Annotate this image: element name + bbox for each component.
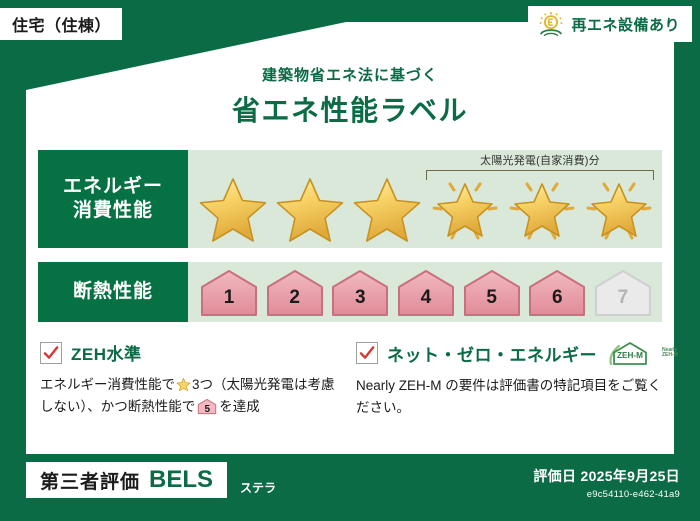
zeh-desc-part1: エネルギー消費性能で (40, 377, 175, 392)
insulation-grade-number: 6 (526, 287, 588, 309)
energy-label-line1: エネルギー (63, 175, 163, 199)
star-icon (196, 174, 270, 246)
insulation-grade-number: 4 (395, 287, 457, 309)
category-tag-label: 住宅（住棟） (12, 12, 111, 36)
zeh-standard-header: ZEH水準 (40, 340, 340, 365)
net-zero-energy-checkbox[interactable] (356, 342, 378, 364)
inline-house-number: 5 (197, 402, 217, 419)
solar-annotation-label: 太陽光発電(自家消費)分 (426, 152, 654, 168)
evaluation-date-label: 評価日 (533, 468, 576, 484)
zeh-standard-section: ZEH水準 エネルギー消費性能で3つ（太陽光発電は考慮しない）、かつ断熱性能で5… (40, 340, 340, 419)
inline-star-icon (176, 377, 191, 392)
renewable-energy-badge: 再エネ設備あり (528, 6, 692, 42)
star-item (273, 174, 347, 246)
net-zero-energy-section: ネット・ゼロ・エネルギー ZEH-M Nearly ZEH-M Nearly Z… (356, 340, 662, 420)
evaluation-date-value: 2025年9月25日 (580, 468, 680, 484)
insulation-grade-item: 6 (526, 267, 588, 319)
star-item (196, 174, 270, 246)
insulation-grade-item: 4 (395, 267, 457, 319)
energy-performance-label: 住宅（住棟） 再エネ設備あり 建築物省エネ法に基づく 省エネ性能ラベル エネルギ… (0, 0, 700, 521)
insulation-grade-number: 3 (329, 287, 391, 309)
energy-label-line2: 消費性能 (73, 199, 153, 223)
star-icon (582, 174, 656, 246)
label-title-sub: 建築物省エネ法に基づく (0, 64, 700, 85)
net-zero-energy-header: ネット・ゼロ・エネルギー ZEH-M Nearly ZEH-M (356, 340, 662, 366)
insulation-grade-item: 3 (329, 267, 391, 319)
insulation-grade-number: 7 (592, 287, 654, 309)
category-tag: 住宅（住棟） (0, 8, 122, 40)
star-icon (273, 174, 347, 246)
star-item-solar (428, 174, 502, 246)
insulation-grade-group: 1 2 3 4 (198, 267, 654, 319)
star-icon (350, 174, 424, 246)
star-rating-group (196, 172, 656, 246)
solar-sun-icon (538, 11, 564, 37)
zeh-m-logo-caption: Nearly ZEH-M (662, 348, 678, 359)
star-item (350, 174, 424, 246)
check-icon (359, 345, 375, 361)
zeh-m-caption-line2: ZEH-M (662, 353, 678, 359)
zeh-m-logo-text: ZEH-M (617, 351, 643, 360)
check-icon (43, 345, 59, 361)
insulation-performance-label: 断熱性能 (38, 262, 188, 322)
insulation-grade-number: 2 (264, 287, 326, 309)
evaluation-id: e9c54110-e462-41a9 (533, 489, 680, 500)
evaluation-date: 評価日 2025年9月25日 (533, 466, 680, 486)
bels-evaluation-badge: 第三者評価 BELS (26, 462, 227, 498)
zeh-m-logo-icon: ZEH-M (608, 340, 652, 366)
insulation-grade-item-inactive: 7 (592, 267, 654, 319)
insulation-grade-item: 5 (461, 267, 523, 319)
label-title-main: 省エネ性能ラベル (0, 89, 700, 129)
net-zero-energy-title: ネット・ゼロ・エネルギー (387, 341, 597, 366)
inline-house-badge: 5 (197, 398, 217, 415)
zeh-desc-part3: を達成 (219, 399, 260, 414)
zeh-standard-checkbox[interactable] (40, 342, 62, 364)
star-icon (505, 174, 579, 246)
energy-performance-row: エネルギー 消費性能 太陽光発電(自家消費)分 (38, 150, 662, 248)
renewable-badge-label: 再エネ設備あり (571, 14, 680, 35)
evaluation-info: 評価日 2025年9月25日 e9c54110-e462-41a9 (533, 466, 680, 500)
label-title-block: 建築物省エネ法に基づく 省エネ性能ラベル (0, 64, 700, 129)
insulation-grade-item: 1 (198, 267, 260, 319)
insulation-grade-number: 1 (198, 287, 260, 309)
zeh-standard-description: エネルギー消費性能で3つ（太陽光発電は考慮しない）、かつ断熱性能で5を達成 (40, 374, 340, 419)
company-name: ステラ (240, 479, 276, 496)
bels-jp-label: 第三者評価 (40, 467, 140, 494)
energy-performance-body: 太陽光発電(自家消費)分 (188, 150, 662, 248)
insulation-label-text: 断熱性能 (73, 280, 153, 304)
energy-performance-label: エネルギー 消費性能 (38, 150, 188, 248)
star-item-solar (505, 174, 579, 246)
net-zero-energy-description: Nearly ZEH-M の要件は評価書の特記項目をご覧ください。 (356, 375, 662, 420)
zeh-standard-title: ZEH水準 (71, 340, 142, 365)
bels-en-label: BELS (149, 466, 213, 494)
insulation-grade-item: 2 (264, 267, 326, 319)
insulation-performance-body: 1 2 3 4 (188, 262, 662, 322)
insulation-performance-row: 断熱性能 1 2 (38, 262, 662, 322)
star-item-solar (582, 174, 656, 246)
star-icon (428, 174, 502, 246)
insulation-grade-number: 5 (461, 287, 523, 309)
